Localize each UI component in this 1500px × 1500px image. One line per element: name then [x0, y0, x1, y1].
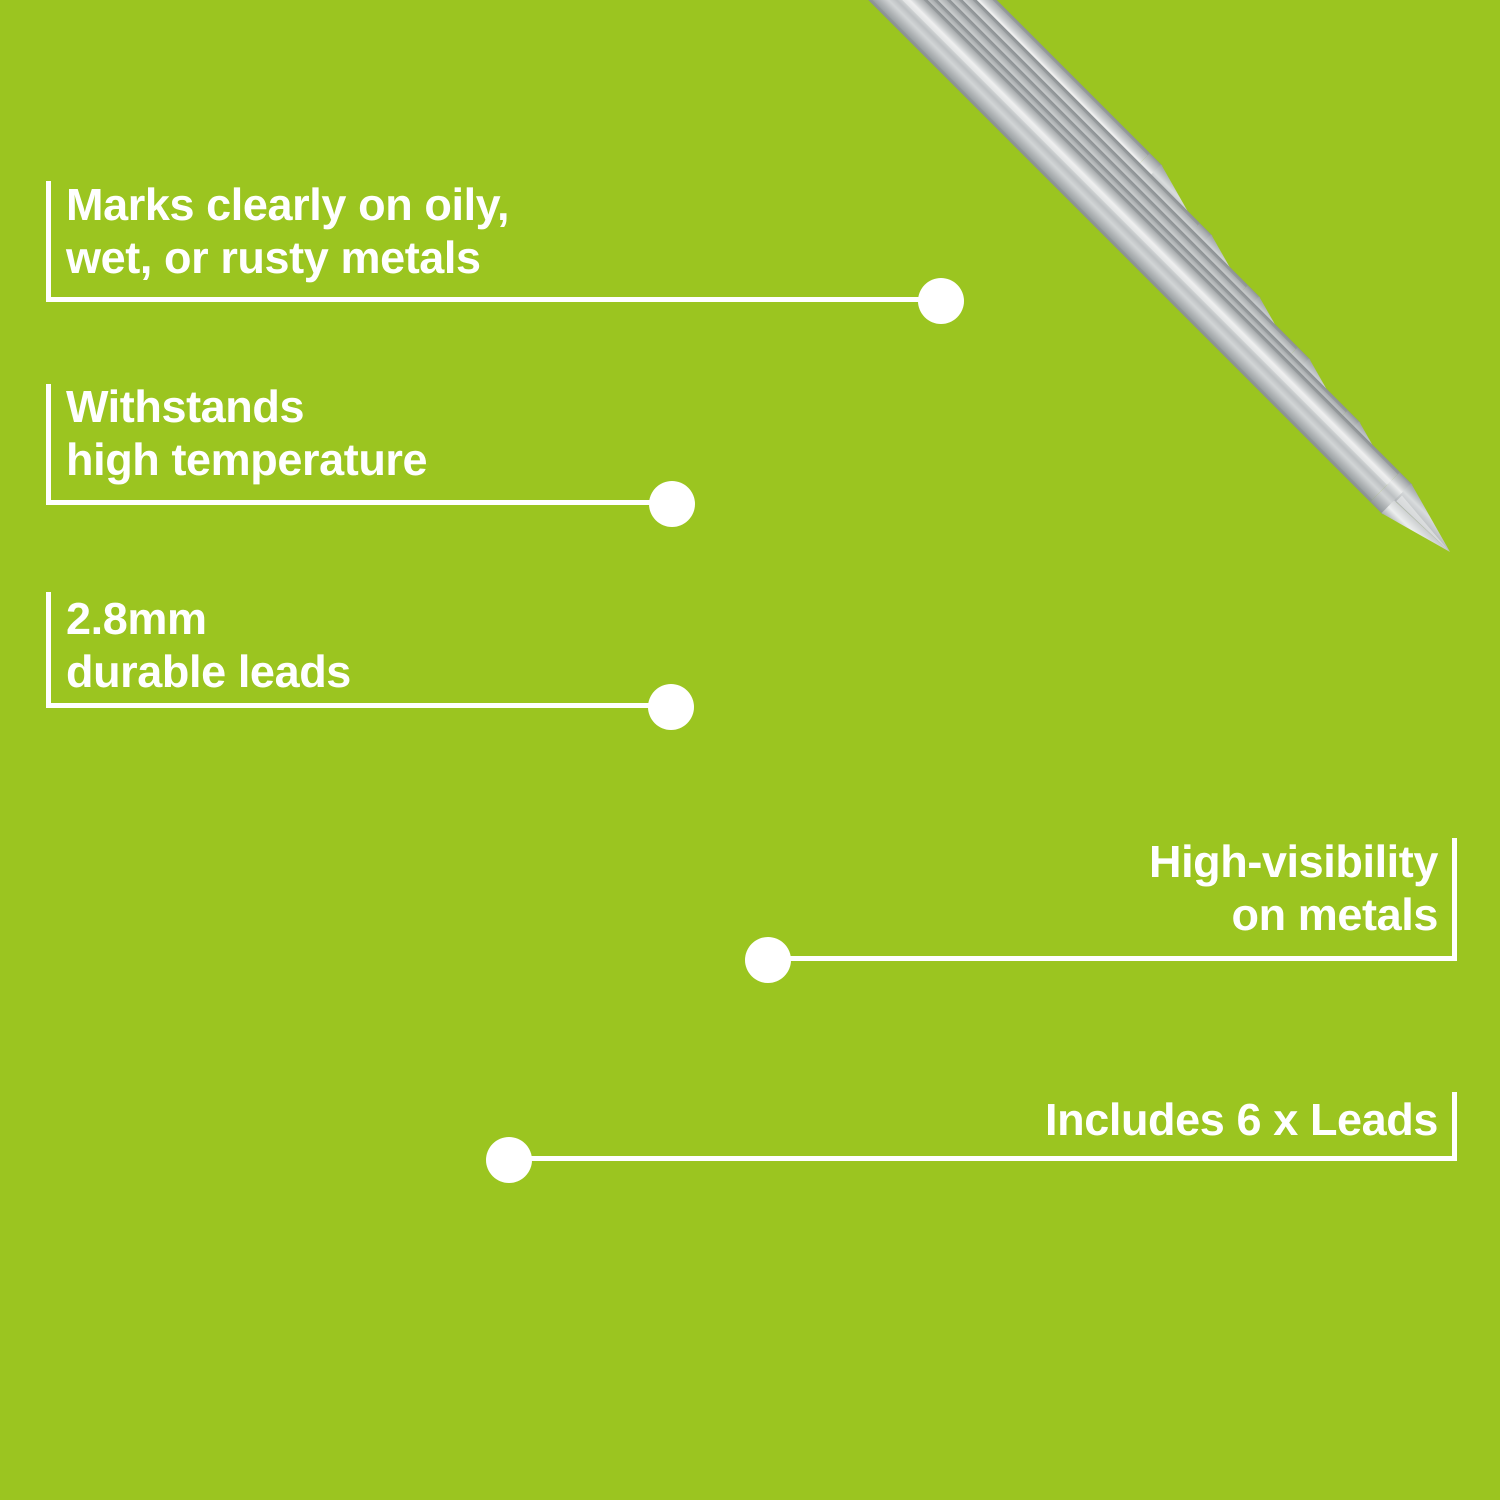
callout-label-durable-leads: 2.8mm durable leads	[66, 592, 351, 698]
callout-label-high-visibility: High-visibility on metals	[1149, 835, 1438, 941]
callout-label-marks-clearly: Marks clearly on oily, wet, or rusty met…	[66, 178, 509, 284]
infographic-canvas: Marks clearly on oily, wet, or rusty met…	[0, 0, 1500, 1500]
callout-label-includes-six-leads: Includes 6 x Leads	[1045, 1093, 1438, 1146]
callout-label-withstands-high-temperature: Withstands high temperature	[66, 380, 427, 486]
